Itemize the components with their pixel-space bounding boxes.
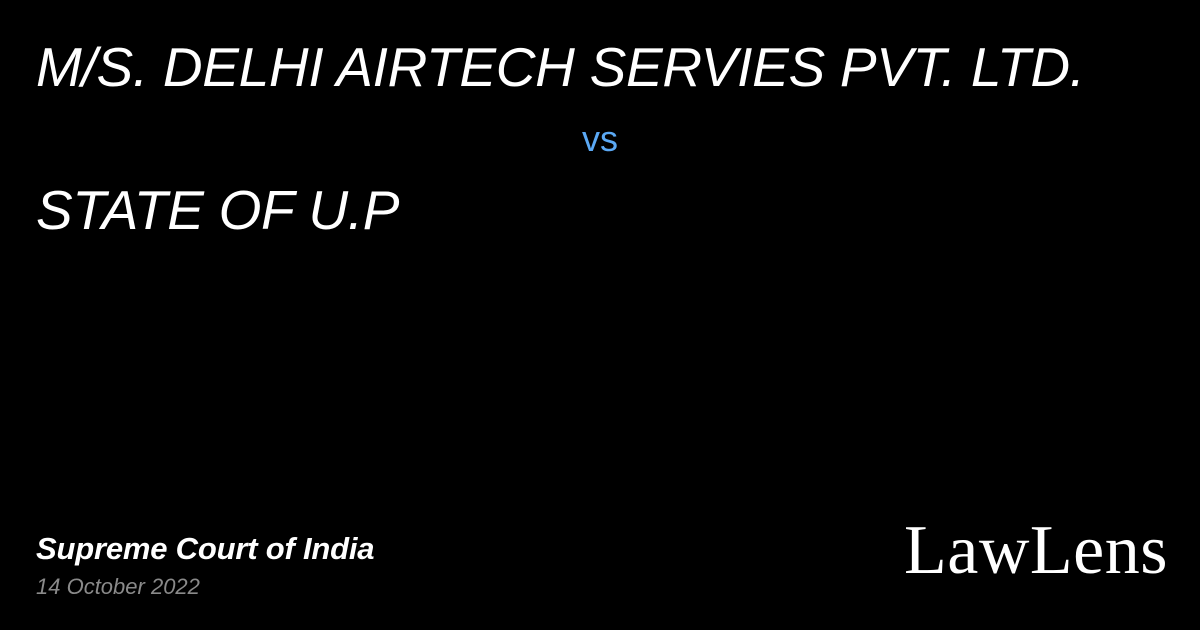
respondent-name: STATE OF U.P [36,180,1176,240]
footer-meta-group: Supreme Court of India 14 October 2022 [36,530,374,600]
judgment-date: 14 October 2022 [36,574,374,600]
petitioner-name: M/S. DELHI AIRTECH SERVIES PVT. LTD. [36,37,1176,97]
versus-separator: vs [0,118,1200,160]
lawlens-logo: LawLens [904,514,1168,588]
card-footer: Supreme Court of India 14 October 2022 L… [0,470,1200,630]
case-card: M/S. DELHI AIRTECH SERVIES PVT. LTD. vs … [0,0,1200,630]
court-name: Supreme Court of India [36,530,374,568]
